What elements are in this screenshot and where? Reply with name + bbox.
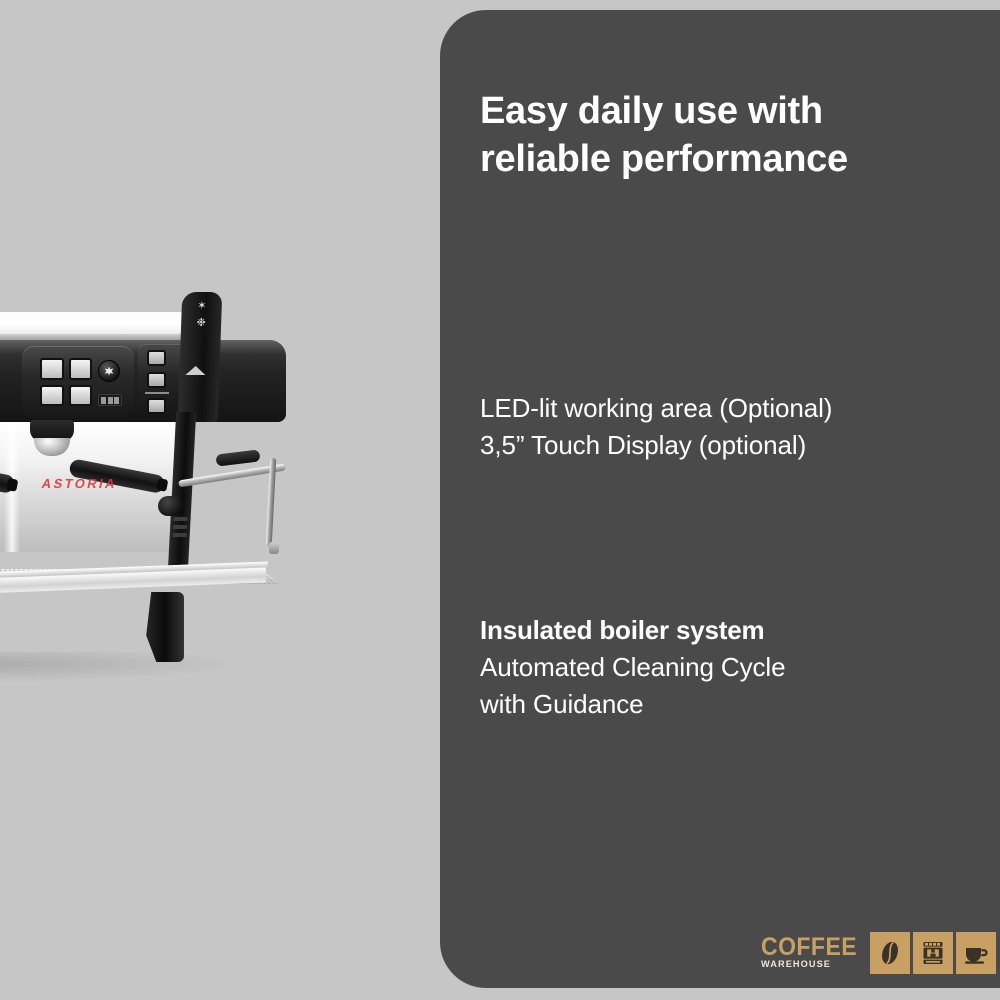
machine-brand-wordmark: ASTORIA — [40, 476, 118, 491]
dose-button-grid-2[interactable] — [40, 358, 92, 406]
brand-logo-wordmark: COFFEE WAREHOUSE — [761, 932, 867, 974]
steam-wand-tip — [269, 542, 279, 554]
espresso-machine-icon — [921, 940, 945, 966]
brand-logo-line-2: WAREHOUSE — [761, 960, 862, 970]
dose-button-2c[interactable] — [40, 385, 64, 407]
steam-valve-knob[interactable] — [158, 496, 184, 516]
espresso-machine-illustration: ✶ ❉ ASTORIA — [0, 300, 400, 660]
led-digit-icon — [114, 397, 119, 404]
fin-icon-group: ✶ ❉ — [189, 300, 214, 336]
steam-wand-grip[interactable] — [215, 449, 260, 466]
slide-canvas: ✶ ❉ ASTORIA — [0, 0, 1000, 1000]
content-panel-inner: Easy daily use with reliable performance… — [480, 10, 980, 988]
vent-slot-icon — [173, 525, 187, 529]
espresso-machine-icon-tile — [913, 932, 953, 974]
cleaning-cycle-icon: ✶ — [193, 300, 211, 313]
brand-logo: COFFEE WAREHOUSE — [761, 932, 996, 974]
vent-slot-icon — [173, 533, 187, 537]
machine-rear-fin: ✶ ❉ — [178, 292, 223, 422]
led-counter-display-2 — [98, 394, 122, 406]
dose-button-2b[interactable] — [69, 358, 93, 380]
keypad-group-2[interactable] — [22, 346, 134, 418]
brand-logo-line-1: COFFEE — [761, 936, 857, 959]
content-panel: Easy daily use with reliable performance… — [440, 10, 1000, 988]
dose-button-2a[interactable] — [40, 358, 64, 380]
continuous-brew-button-2[interactable] — [98, 360, 120, 382]
led-digit-icon — [108, 397, 113, 404]
feature-1-line-1: LED-lit working area (Optional) — [480, 390, 960, 427]
feature-1-line-2: 3,5” Touch Display (optional) — [480, 427, 960, 464]
page-title: Easy daily use with reliable performance — [480, 88, 950, 183]
feature-2-line-1: Automated Cleaning Cycle — [480, 649, 960, 686]
settings-gear-icon: ❉ — [192, 317, 210, 330]
feature-2-title: Insulated boiler system — [480, 612, 960, 649]
machine-shadow — [0, 652, 240, 682]
tea-button[interactable] — [147, 398, 166, 414]
steam-button[interactable] — [147, 372, 166, 388]
coffee-cup-icon — [963, 940, 989, 966]
dose-button-2d[interactable] — [69, 385, 93, 407]
coffee-bean-icon-tile — [870, 932, 910, 974]
keypad-divider — [145, 392, 169, 394]
chevron-up-icon — [185, 366, 205, 375]
coffee-cup-icon-tile — [956, 932, 996, 974]
hot-water-button[interactable] — [147, 350, 166, 366]
vent-slot-icon — [173, 517, 187, 521]
feature-block-1: LED-lit working area (Optional) 3,5” Tou… — [480, 390, 960, 464]
coffee-bean-icon — [879, 940, 901, 966]
feature-block-2: Insulated boiler system Automated Cleani… — [480, 612, 960, 723]
feature-2-line-2: with Guidance — [480, 686, 960, 723]
group-head-2 — [16, 420, 90, 450]
product-image: ✶ ❉ ASTORIA — [0, 0, 445, 1000]
led-digit-icon — [101, 397, 106, 404]
